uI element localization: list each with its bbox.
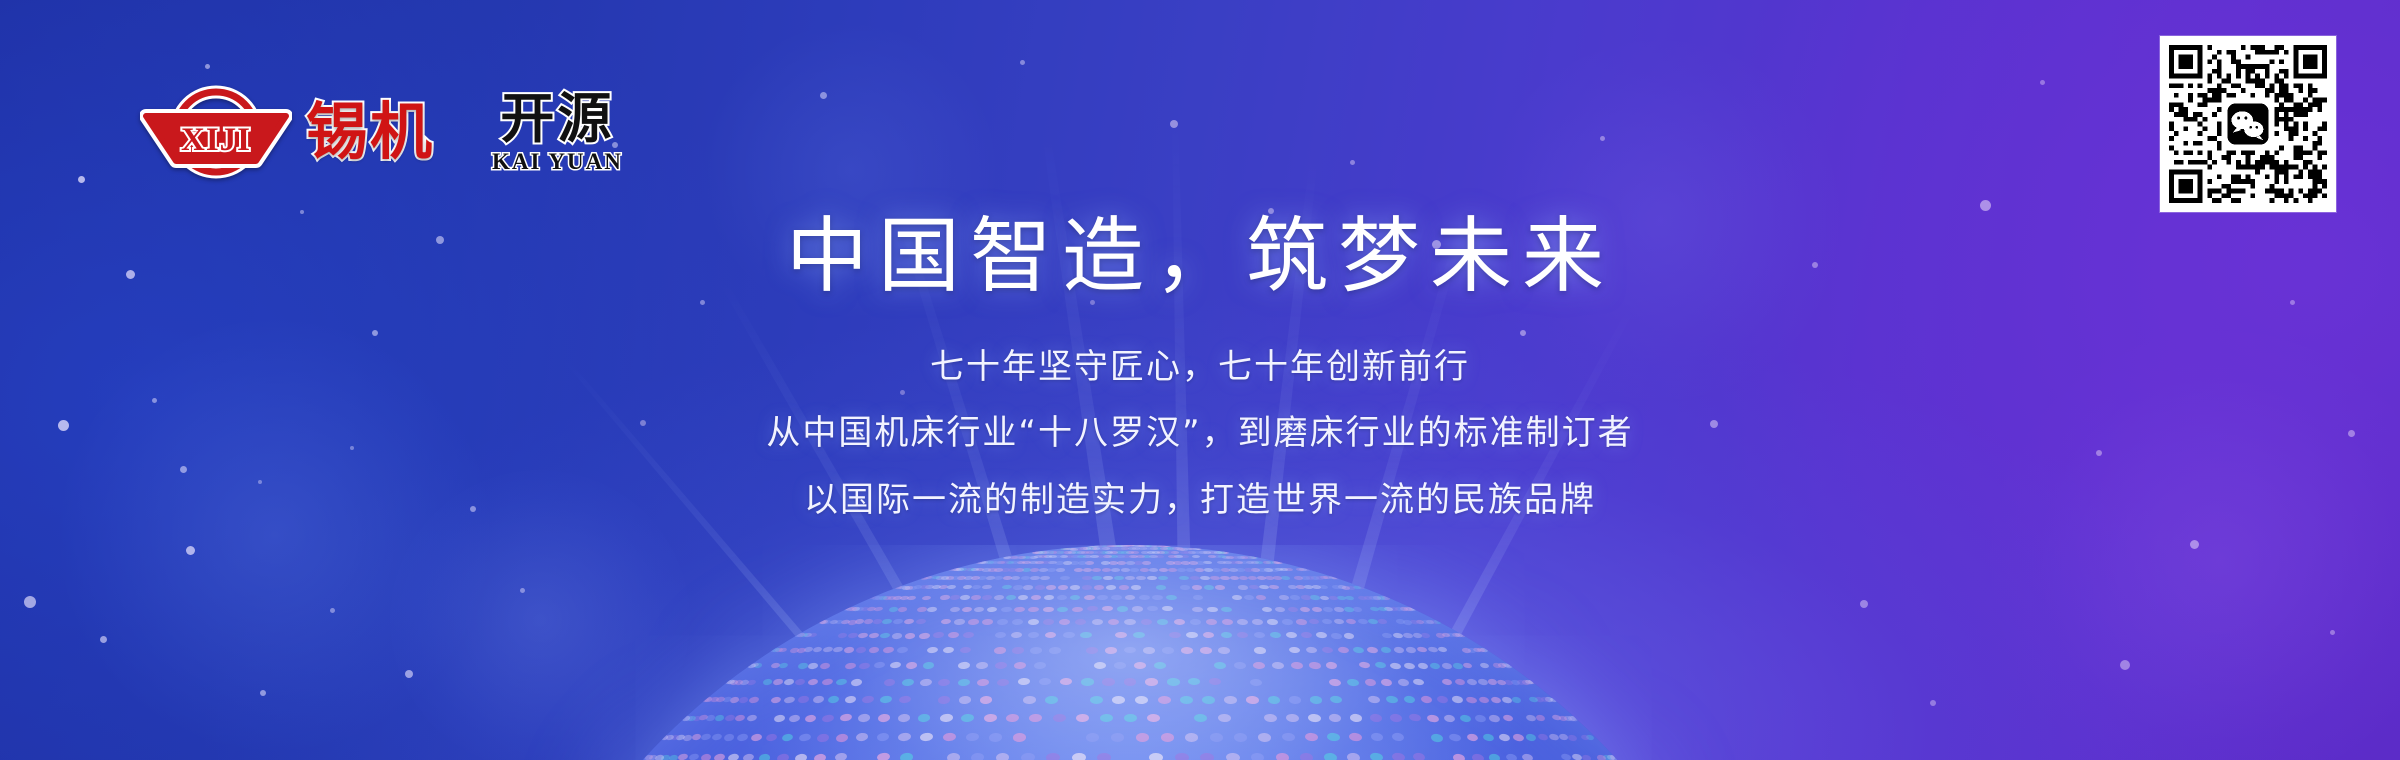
- headline-block: 中国智造，筑梦未来 七十年坚守匠心，七十年创新前行 从中国机床行业“十八罗汉”，…: [0, 214, 2400, 533]
- company-logo[interactable]: XIJI 锡机 开源 KAI YUAN: [140, 80, 623, 184]
- sub-brand-en: KAI YUAN: [492, 150, 623, 173]
- brand-name-cn: 锡机: [306, 101, 434, 163]
- qr-matrix-icon: [2169, 45, 2327, 203]
- svg-text:XIJI: XIJI: [181, 122, 251, 158]
- logo-spacer: [434, 132, 492, 133]
- dotted-globe: [470, 545, 1790, 760]
- sub-brand-lockup: 开源 KAI YUAN: [492, 92, 623, 173]
- subtitle-line: 从中国机床行业“十八罗汉”，到磨床行业的标准制订者: [0, 400, 2400, 466]
- subtitle-line: 七十年坚守匠心，七十年创新前行: [0, 334, 2400, 400]
- wechat-qr-code[interactable]: [2160, 36, 2336, 212]
- sub-brand-cn: 开源: [500, 92, 614, 146]
- subtitle-line: 以国际一流的制造实力，打造世界一流的民族品牌: [0, 467, 2400, 533]
- globe-rim: [470, 545, 1790, 760]
- page-title: 中国智造，筑梦未来: [0, 214, 2400, 300]
- promo-banner: XIJI 锡机 开源 KAI YUAN 中国智造，筑梦未来 七十年坚守匠心，七十…: [0, 0, 2400, 760]
- xiji-emblem-icon: XIJI: [140, 82, 292, 182]
- subtitle-list: 七十年坚守匠心，七十年创新前行 从中国机床行业“十八罗汉”，到磨床行业的标准制订…: [0, 334, 2400, 533]
